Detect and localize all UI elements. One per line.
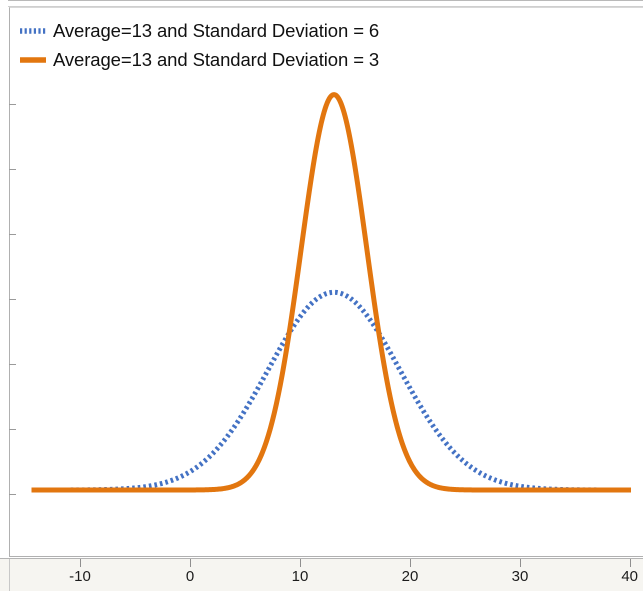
y-axis-tick — [9, 169, 16, 170]
x-axis-left-edge — [9, 559, 10, 591]
chart-figure: Average=13 and Standard Deviation = 6 Av… — [0, 0, 643, 590]
y-axis-tick — [9, 299, 16, 300]
x-axis-tick-label: 0 — [186, 568, 194, 585]
plot-inner: Average=13 and Standard Deviation = 6 Av… — [10, 8, 643, 556]
chart-legend: Average=13 and Standard Deviation = 6 Av… — [19, 16, 449, 74]
plot-area: Average=13 and Standard Deviation = 6 Av… — [9, 7, 643, 557]
y-axis-tick — [9, 364, 16, 365]
dotted-line-marker-icon — [19, 24, 47, 38]
x-axis-tick — [80, 559, 81, 567]
y-axis-tick — [9, 104, 16, 105]
y-axis-tick — [9, 429, 16, 430]
x-axis: -10010203040 — [0, 558, 643, 591]
legend-label-std-3: Average=13 and Standard Deviation = 3 — [53, 49, 379, 71]
x-axis-tick — [630, 559, 631, 567]
solid-line-marker-icon — [19, 53, 47, 67]
x-axis-tick — [190, 559, 191, 567]
y-axis-tick — [9, 494, 16, 495]
legend-entry-std-3[interactable]: Average=13 and Standard Deviation = 3 — [19, 45, 449, 74]
curve-std-6 — [32, 292, 632, 490]
x-axis-tick — [520, 559, 521, 567]
x-axis-tick-label: -10 — [69, 568, 91, 585]
x-axis-tick-label: 20 — [402, 568, 419, 585]
x-axis-tick-label: 40 — [621, 568, 638, 585]
x-axis-tick-label: 30 — [512, 568, 529, 585]
x-axis-tick — [300, 559, 301, 567]
y-axis-tick — [9, 234, 16, 235]
x-axis-tick — [410, 559, 411, 567]
x-axis-tick-label: 10 — [292, 568, 309, 585]
legend-entry-std-6[interactable]: Average=13 and Standard Deviation = 6 — [19, 16, 449, 45]
distribution-curves — [10, 8, 643, 558]
legend-label-std-6: Average=13 and Standard Deviation = 6 — [53, 20, 379, 42]
figure-top-rule — [8, 0, 643, 1]
